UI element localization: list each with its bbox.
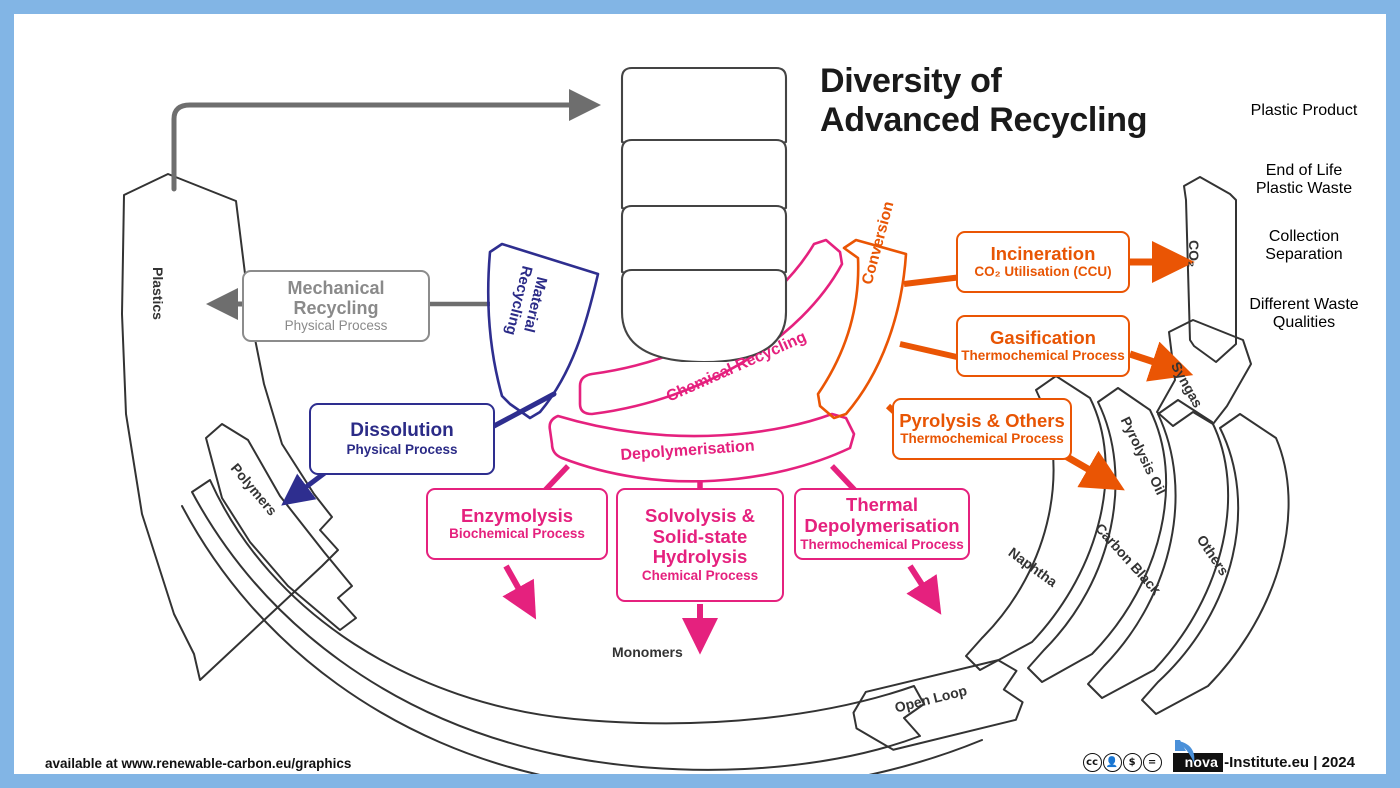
chevron-label-plastic-product: Plastic Product: [618, 102, 1400, 120]
cc-nd-icon: =: [1143, 753, 1162, 772]
gasification-title: Gasification: [990, 328, 1096, 349]
diagram-canvas: Diversity of Advanced Recycling Plastic …: [14, 14, 1386, 774]
chevron-label-end-of-life-line1: End of Life: [618, 162, 1400, 180]
dissolution-box[interactable]: Dissolution Physical Process: [309, 403, 495, 475]
mechanical-recycling-subtitle: Physical Process: [285, 318, 388, 334]
thermal-title: Thermal Depolymerisation: [804, 495, 959, 537]
creative-commons-badges: cc 👤 $ =: [1083, 753, 1162, 772]
incineration-box[interactable]: Incineration CO₂ Utilisation (CCU): [956, 231, 1130, 293]
nova-institute-logo: nova -Institute.eu | 2024: [1173, 753, 1355, 772]
mechanical-recycling-box[interactable]: Mechanical Recycling Physical Process: [242, 270, 430, 342]
footer-attribution: available at www.renewable-carbon.eu/gra…: [45, 756, 351, 771]
incineration-title: Incineration: [991, 244, 1096, 265]
cc-nc-icon: $: [1123, 753, 1142, 772]
gasification-subtitle: Thermochemical Process: [961, 348, 1125, 364]
solvolysis-subtitle: Chemical Process: [642, 568, 758, 584]
mechanical-recycling-title: Mechanical Recycling: [287, 278, 384, 319]
pyrolysis-others-box[interactable]: Pyrolysis & Others Thermochemical Proces…: [892, 398, 1072, 460]
gasification-box[interactable]: Gasification Thermochemical Process: [956, 315, 1130, 377]
arrow-enzymolysis-to-monomers: [506, 566, 524, 598]
thermal-subtitle: Thermochemical Process: [800, 537, 964, 553]
incineration-subtitle: CO₂ Utilisation (CCU): [974, 264, 1111, 280]
nova-institute-text: -Institute.eu | 2024: [1224, 754, 1355, 771]
ring-label-plastics: Plastics: [150, 267, 166, 320]
cc-by-icon: 👤: [1103, 753, 1122, 772]
arrow-gasification-to-syngas: [1130, 354, 1166, 366]
enzymolysis-title: Enzymolysis: [461, 506, 573, 527]
ring-open-loop-shape: [849, 657, 1027, 756]
pyrolysis-title: Pyrolysis & Others: [899, 411, 1065, 432]
cc-icon: cc: [1083, 753, 1102, 772]
ring-plastics-shape: [122, 174, 338, 680]
chevron-label-waste-qualities-line1: Different Waste: [618, 296, 1400, 314]
ring-label-co2: CO₂: [1186, 240, 1202, 267]
arrow-plastics-to-product: [174, 105, 580, 189]
solvolysis-box[interactable]: Solvolysis & Solid-state Hydrolysis Chem…: [616, 488, 784, 602]
pyrolysis-subtitle: Thermochemical Process: [900, 431, 1064, 447]
chevron-label-end-of-life-line2: Plastic Waste: [618, 180, 1400, 198]
poster-page: Diversity of Advanced Recycling Plastic …: [0, 0, 1400, 788]
solvolysis-title: Solvolysis & Solid-state Hydrolysis: [645, 506, 755, 569]
ring-label-monomers: Monomers: [612, 644, 683, 660]
thermal-depolymerisation-box[interactable]: Thermal Depolymerisation Thermochemical …: [794, 488, 970, 560]
title-line-1: Diversity of: [820, 62, 1240, 101]
footer-brand: cc 👤 $ = nova -Institute.eu | 2024: [1083, 753, 1355, 772]
enzymolysis-box[interactable]: Enzymolysis Biochemical Process: [426, 488, 608, 560]
enzymolysis-subtitle: Biochemical Process: [449, 526, 585, 542]
nova-swoosh-icon: [1172, 739, 1198, 769]
dissolution-title: Dissolution: [350, 420, 453, 441]
dissolution-subtitle: Physical Process: [346, 442, 457, 458]
arrow-thermal-to-monomers: [910, 566, 928, 594]
